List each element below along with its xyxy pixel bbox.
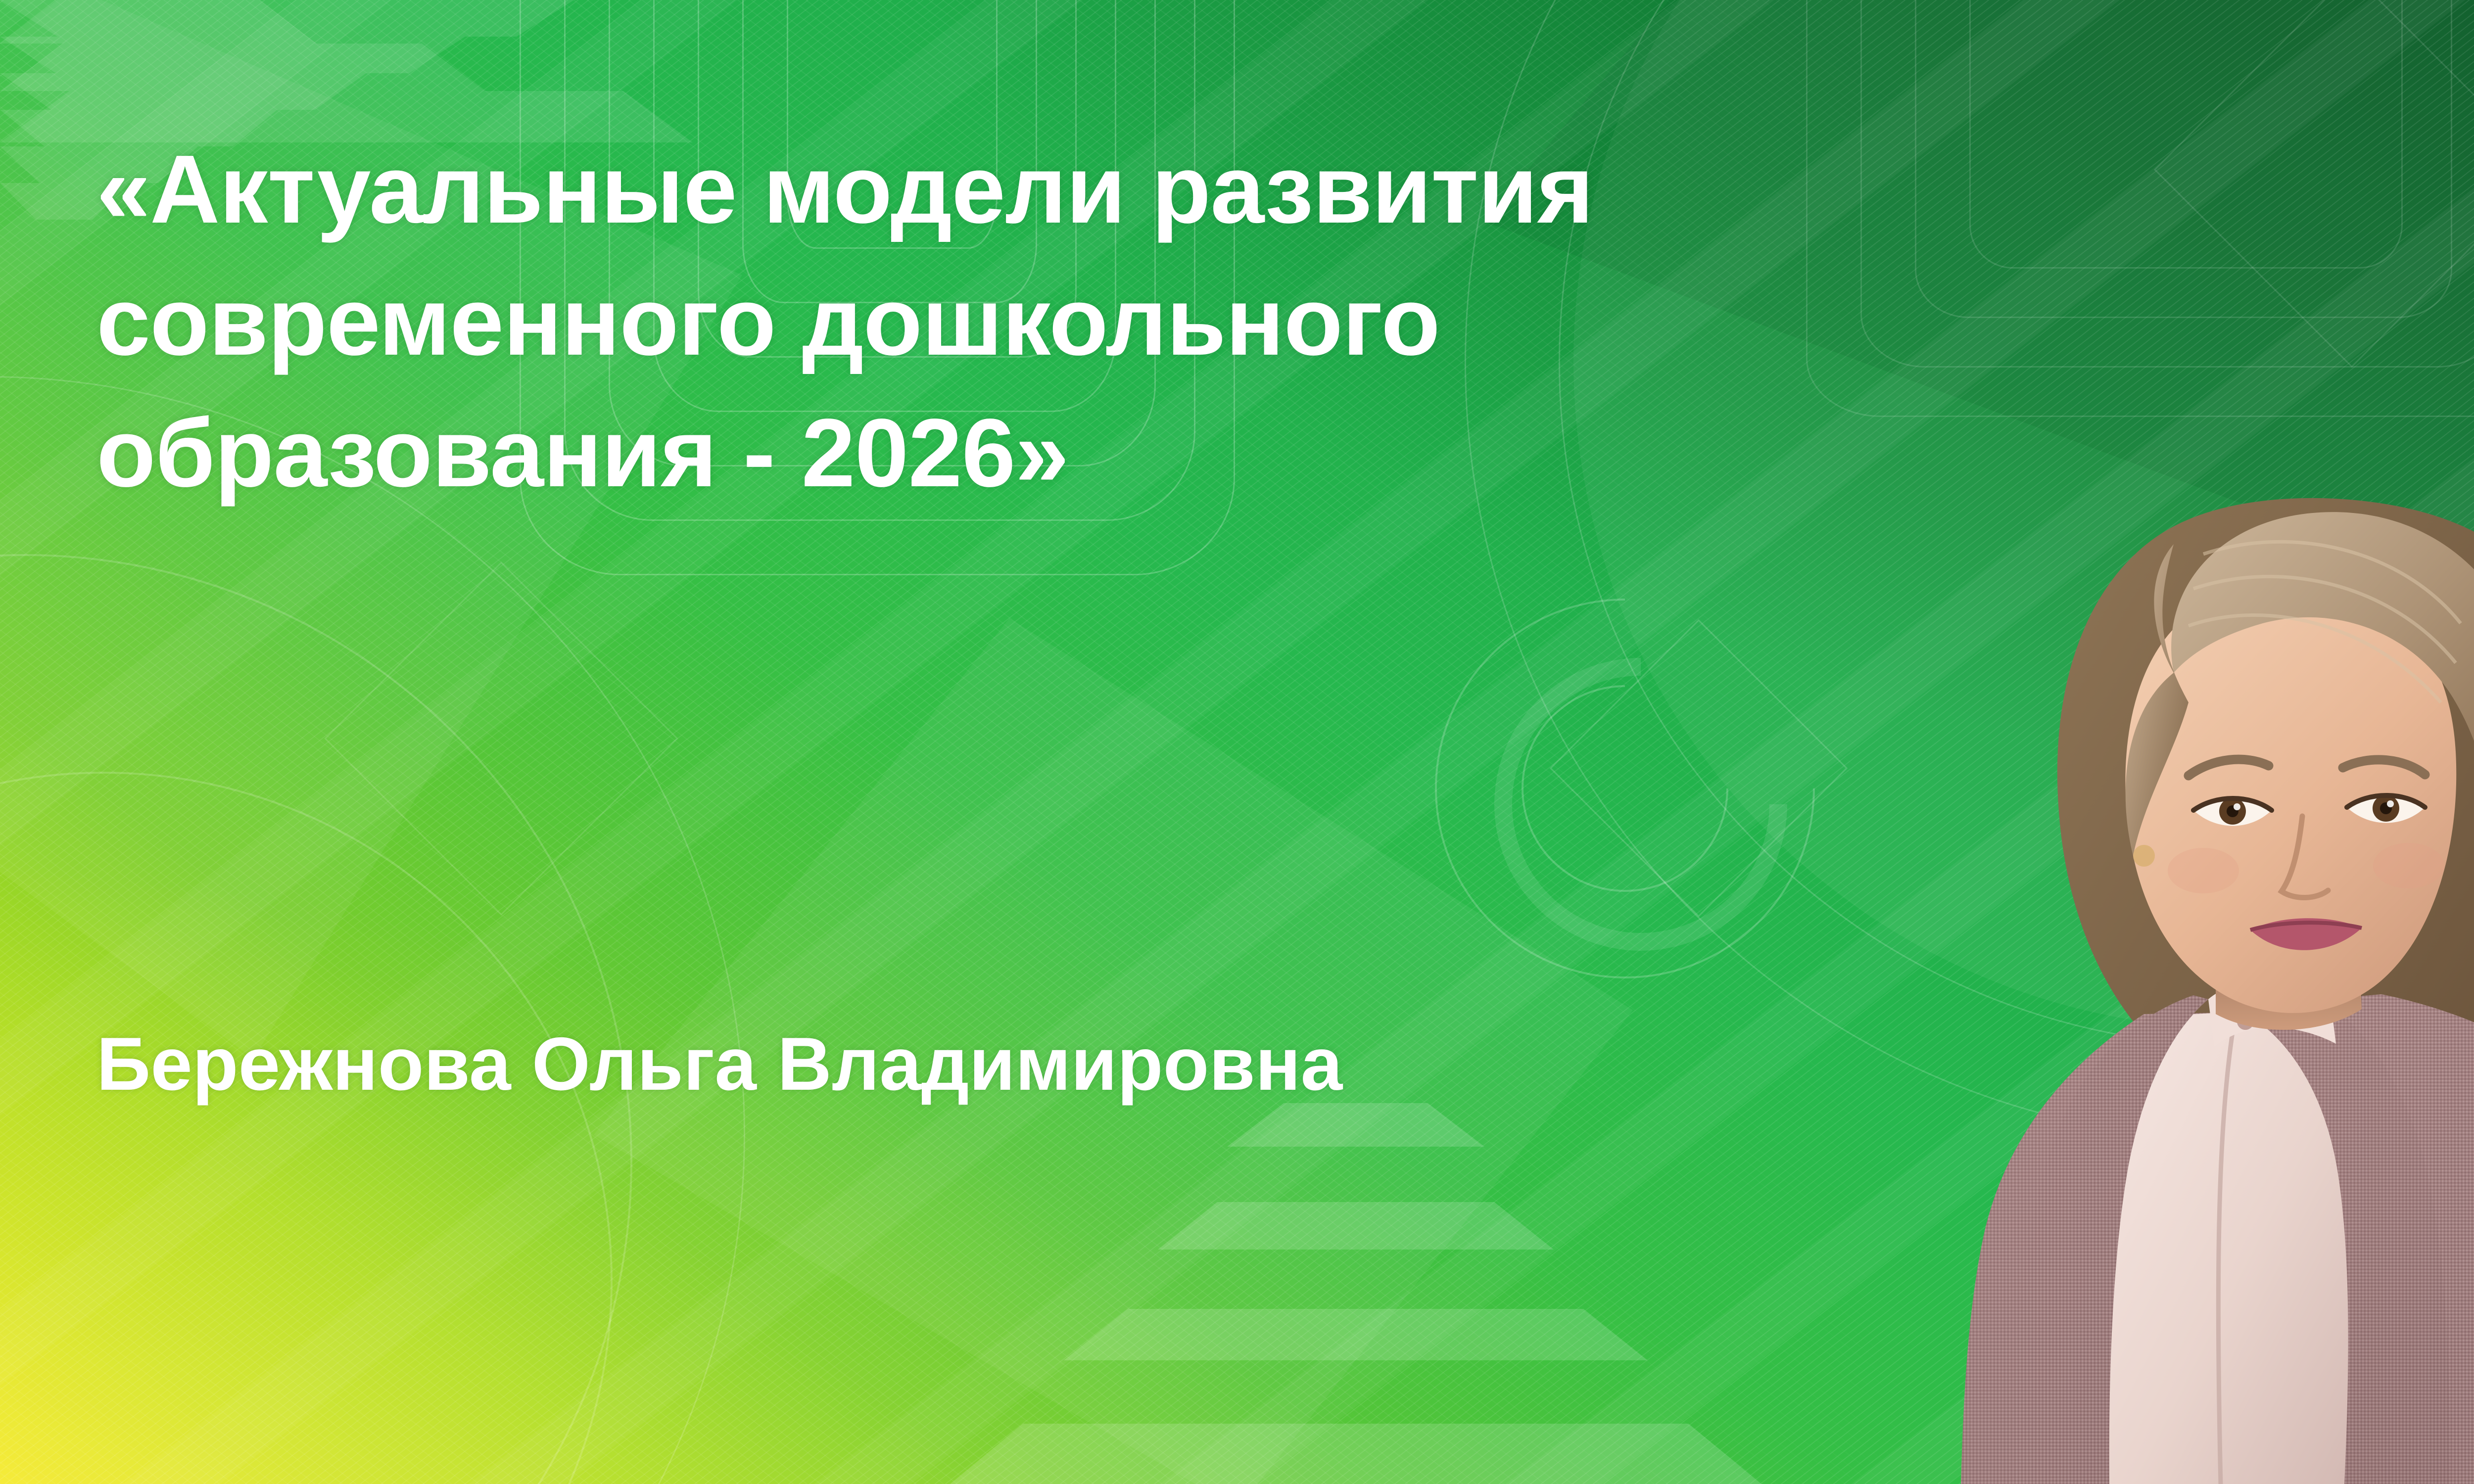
presenter-name: Бережнова Ольга Владимировна [96, 1019, 1342, 1109]
title-slide: «Актуальные модели развития современного… [0, 0, 2474, 1484]
page-title-line3: образования - 2026» [96, 387, 1828, 519]
presenter-portrait [1798, 356, 2474, 1484]
page-title: «Актуальные модели развития [96, 124, 1828, 256]
page-title-line2: современного дошкольного [96, 256, 1828, 388]
title-block: «Актуальные модели развития современного… [96, 124, 1828, 519]
